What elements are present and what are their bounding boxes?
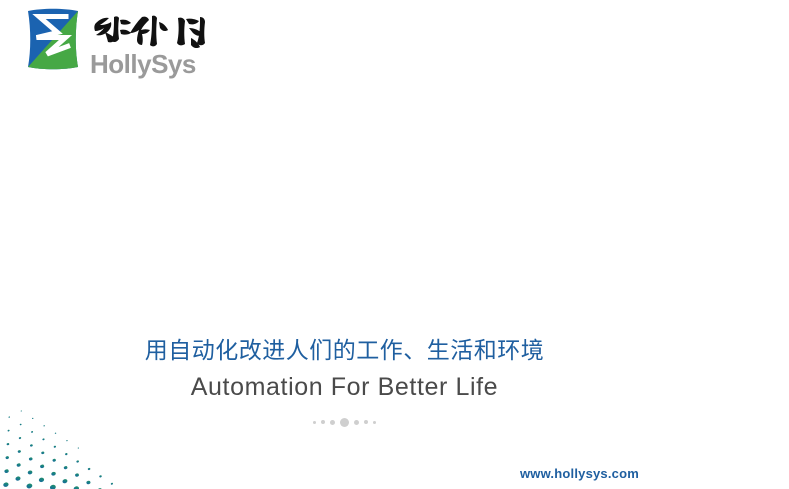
cover-slide: HollySys 用自动化改进人们的工作、生活和环境 Automation Fo…	[0, 0, 789, 489]
hollysys-logo-mark-icon	[24, 8, 82, 70]
decorative-dot	[321, 420, 325, 424]
decorative-dot	[373, 421, 376, 424]
tagline-english: Automation For Better Life	[0, 373, 789, 402]
website-url: www.hollysys.com	[0, 466, 789, 481]
decorative-dot	[354, 420, 359, 425]
brand-latin-name: HollySys	[90, 51, 196, 77]
decorative-dot	[330, 420, 335, 425]
brand-logo: HollySys	[24, 8, 212, 77]
decorative-dot	[364, 420, 368, 424]
decorative-dot	[313, 421, 316, 424]
decorative-dot	[340, 418, 349, 427]
tagline-chinese: 用自动化改进人们的工作、生活和环境	[0, 331, 789, 365]
brand-wordmark: HollySys	[90, 8, 212, 77]
decorative-dot-row	[0, 414, 789, 430]
chinese-calligraphy-wordmark-icon	[90, 10, 212, 50]
